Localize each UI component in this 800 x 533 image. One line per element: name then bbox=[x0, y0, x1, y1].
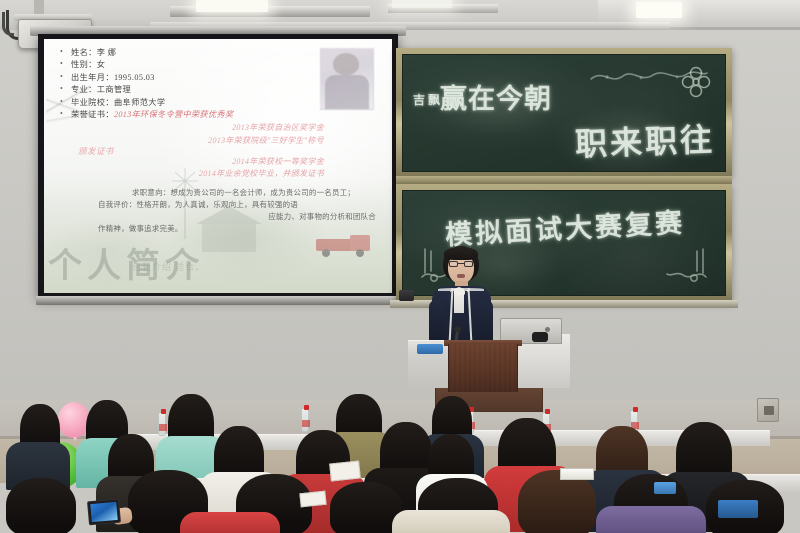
award-list-secondary: 2014年荣获校一等奖学金 2014年业余党校毕业，并颁发证书 bbox=[60, 156, 382, 180]
presentation-slide: 姓名：李 娜 性别：女 出生年月：1995.05.03 专业：工商管理 毕业院校… bbox=[44, 39, 392, 293]
audience-body bbox=[392, 510, 510, 533]
water-bottle bbox=[158, 412, 166, 436]
blackboard-event-title: 模拟面试大赛复赛 bbox=[444, 201, 686, 253]
blackboard-slogan-left-small: 吉 飘 bbox=[413, 91, 440, 108]
blue-bag-item bbox=[718, 500, 758, 518]
blackboard-slogan-right: 职来职往 bbox=[574, 115, 716, 166]
presenter-figure bbox=[424, 246, 498, 350]
projector-cable bbox=[2, 12, 14, 36]
blackboard-eraser-icon bbox=[399, 290, 414, 301]
desk-object bbox=[532, 332, 548, 342]
list-item: 专业：工商管理 bbox=[60, 84, 382, 96]
list-item: 出生年月：1995.05.03 bbox=[60, 72, 382, 84]
award-list-primary: 2013年荣获自治区奖学金 2013年荣获院级"三好学生"称号 bbox=[60, 122, 382, 146]
screen-bottom-bar bbox=[36, 296, 402, 305]
blackboard-slogan-left: 吉 飘赢在今朝 bbox=[413, 77, 552, 116]
papers-icon bbox=[329, 460, 361, 481]
paragraph-line: 自我评价：性格开朗，为人真诚，乐观向上，具有较强的语 bbox=[98, 199, 376, 211]
phone-screen bbox=[90, 502, 117, 522]
award-line: 2014年业余党校毕业，并颁发证书 bbox=[60, 168, 324, 180]
award-line: 2014年荣获校一等奖学金 bbox=[60, 156, 324, 168]
presenter-fringe bbox=[444, 247, 478, 260]
smartphone-icon bbox=[87, 499, 121, 526]
honor-label: 荣誉证书： bbox=[71, 110, 114, 119]
fluorescent-light bbox=[392, 0, 452, 8]
presenter-mouth bbox=[457, 274, 465, 278]
eyeglasses-icon bbox=[449, 261, 473, 267]
paragraph-line: 应能力、对事物的分析和团队合 bbox=[98, 211, 376, 223]
corner-flourish-ornament bbox=[665, 247, 709, 287]
list-item: 性别：女 bbox=[60, 59, 382, 71]
blackboard-surface: 吉 飘赢在今朝 职来职往 bbox=[402, 54, 726, 172]
slide-main-heading: 个人简介 bbox=[48, 238, 204, 287]
list-item: 姓名：李 娜 bbox=[60, 47, 382, 59]
audience-head bbox=[6, 478, 76, 533]
slide-paragraph: 求职意向：想成为贵公司的一名会计师，成为贵公司的一名员工； 自我评价：性格开朗，… bbox=[98, 187, 376, 235]
honor-first-award: 2013年环保冬令营中荣获优秀奖 bbox=[114, 110, 233, 119]
slide-text-body: 姓名：李 娜 性别：女 出生年月：1995.05.03 专业：工商管理 毕业院校… bbox=[44, 39, 392, 180]
water-bottle bbox=[301, 408, 309, 432]
blue-bag-item bbox=[654, 482, 676, 494]
notebook-icon bbox=[560, 468, 594, 480]
list-item-honors: 荣誉证书：2013年环保冬令营中荣获优秀奖 bbox=[60, 109, 382, 121]
blue-desk-item bbox=[417, 344, 443, 354]
slide-bullet-list: 姓名：李 娜 性别：女 出生年月：1995.05.03 专业：工商管理 毕业院校… bbox=[60, 47, 382, 121]
audience-body bbox=[596, 506, 706, 533]
list-item: 毕业院校：曲阜师范大学 bbox=[60, 97, 382, 109]
paragraph-line: 求职意向：想成为贵公司的一名会计师，成为贵公司的一名员工； bbox=[98, 187, 376, 199]
papers-icon bbox=[299, 491, 326, 508]
white-bowtie bbox=[454, 290, 465, 295]
fluorescent-light bbox=[636, 2, 682, 18]
paragraph-line: 作精神，做事追求完美。 bbox=[98, 223, 376, 235]
classroom-scene: 姓名：李 娜 性别：女 出生年月：1995.05.03 专业：工商管理 毕业院校… bbox=[0, 0, 800, 533]
chalk-flower-ornament bbox=[679, 65, 713, 99]
blackboard-upper: 吉 飘赢在今朝 职来职往 bbox=[396, 48, 732, 178]
projection-screen: 姓名：李 娜 性别：女 出生年月：1995.05.03 专业：工商管理 毕业院校… bbox=[38, 34, 398, 298]
fluorescent-light bbox=[196, 0, 268, 12]
award-line: 2013年荣获自治区奖学金 bbox=[60, 122, 324, 134]
audience-area bbox=[0, 382, 800, 533]
blackboard-slogan-left-main: 赢在今朝 bbox=[440, 84, 552, 114]
audience-body bbox=[180, 512, 280, 533]
